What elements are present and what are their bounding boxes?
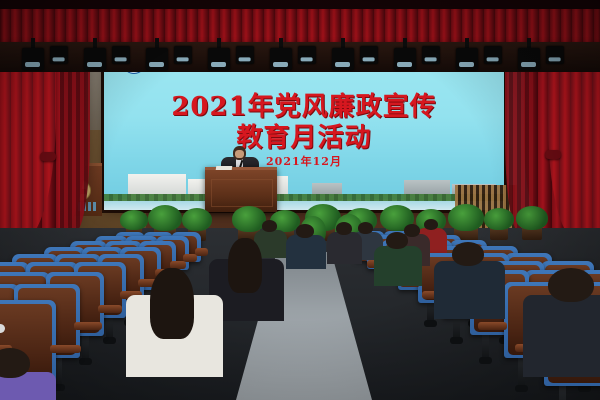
seat-foot — [515, 385, 528, 392]
audience-head — [296, 224, 314, 238]
seat-armrest — [50, 345, 81, 353]
campus-photo — [104, 164, 504, 210]
stage-light — [298, 46, 316, 64]
audience-torso — [286, 235, 326, 269]
podium-front-panel — [211, 179, 273, 207]
audience-head — [424, 219, 438, 230]
audience-head — [336, 222, 352, 235]
audience-head — [228, 238, 262, 293]
seat-foot — [79, 358, 92, 365]
slide-title-line1: 2021年党风廉政宣传 — [104, 92, 504, 123]
podium-document — [216, 166, 233, 170]
seat-foot — [424, 320, 437, 327]
speaker-face — [235, 150, 244, 158]
potted-plant — [484, 208, 514, 230]
stage-light — [146, 48, 168, 70]
audience-torso — [434, 261, 504, 319]
audience-head — [548, 268, 594, 302]
potted-plant — [182, 208, 212, 231]
audience-head — [358, 222, 373, 234]
main-podium — [205, 167, 277, 212]
seat-foot — [450, 337, 463, 344]
curtain-tieback-right — [545, 150, 561, 159]
potted-plant — [516, 206, 548, 230]
potted-plant — [448, 204, 484, 231]
stage-light — [174, 46, 192, 64]
audience-head — [386, 232, 408, 249]
audience-head — [452, 242, 484, 266]
audience-torso — [523, 295, 600, 377]
seat-armrest — [74, 322, 102, 330]
stage-light — [546, 46, 564, 64]
stage-light — [518, 48, 540, 70]
stage-light — [208, 48, 230, 70]
stage-light — [50, 46, 68, 64]
stage-light — [394, 48, 416, 70]
auditorium-scene: 长江大学文理学院 Yangtze University College of A… — [0, 0, 600, 400]
seat-foot — [103, 337, 116, 344]
stage-light — [332, 48, 354, 70]
slide-title-line2: 教育月活动 — [104, 123, 504, 154]
stage-light — [484, 46, 502, 64]
stage-light — [84, 48, 106, 70]
seat-armrest — [195, 248, 208, 256]
seat-armrest — [98, 305, 122, 313]
stage-light — [236, 46, 254, 64]
audience-torso — [374, 246, 422, 287]
seat-armrest — [183, 254, 197, 262]
stage-light — [270, 48, 292, 70]
stage-light — [22, 48, 44, 70]
stage-light — [360, 46, 378, 64]
seat-armrest — [478, 322, 507, 330]
campus-hedge — [104, 194, 504, 201]
seat-foot — [479, 357, 492, 364]
ceiling-shadow — [0, 0, 600, 9]
audience-head — [404, 224, 420, 237]
audience-head — [150, 268, 194, 339]
stage-light — [456, 48, 478, 70]
slide-date: 2021年12月 — [104, 153, 504, 169]
potted-plant — [120, 210, 148, 230]
curtain-tieback-left — [40, 152, 56, 161]
stage-light — [112, 46, 130, 64]
audience-torso — [327, 232, 362, 263]
stage-light — [422, 46, 440, 64]
potted-plant — [232, 206, 266, 232]
potted-plant — [148, 205, 182, 231]
slide-title: 2021年党风廉政宣传 教育月活动 — [104, 92, 504, 153]
audience-head — [262, 220, 277, 232]
